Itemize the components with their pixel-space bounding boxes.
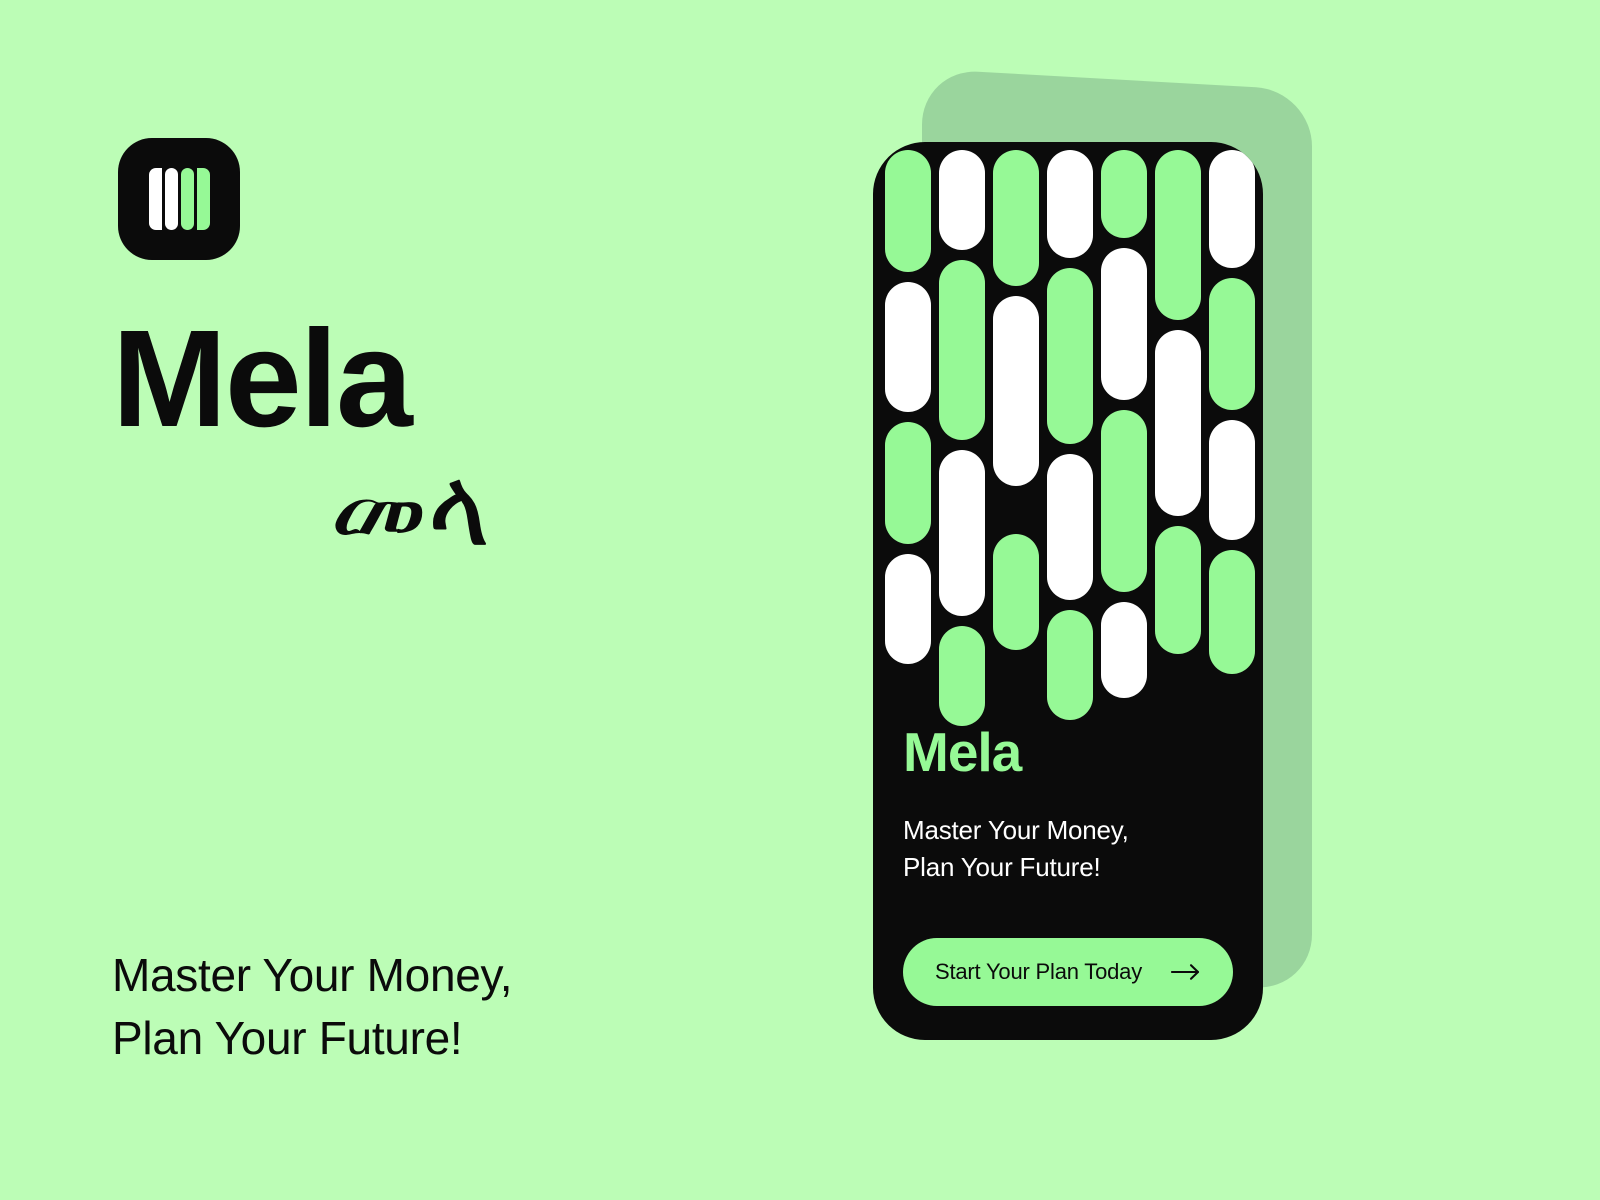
pattern-pill [939,150,985,250]
pattern-pill [885,422,931,544]
logo-bar-2 [165,168,178,230]
logo-bar-1 [149,168,162,230]
pill-column [885,142,931,672]
arrow-right-icon [1171,963,1201,981]
pattern-pill [1047,268,1093,444]
pill-pattern-grid [873,142,1263,672]
logo-bars [149,168,210,230]
logo-bar-3 [181,168,194,230]
wordmark-amharic: መላ [330,455,490,563]
pattern-pill [1209,420,1255,540]
pattern-pill [1047,610,1093,720]
pill-column [939,142,985,672]
brand-tagline-line-1: Master Your Money, [112,944,512,1007]
pattern-pill [1101,248,1147,400]
pill-column [1047,142,1093,672]
pattern-pill [1047,150,1093,258]
pattern-pill [1101,410,1147,592]
phone-tagline-line-2: Plan Your Future! [903,849,1233,886]
pattern-pill [1101,602,1147,698]
pill-column [1155,142,1201,672]
pattern-pill [1155,526,1201,654]
phone-tagline-line-1: Master Your Money, [903,812,1233,849]
pattern-pill [939,260,985,440]
pattern-pill [1209,150,1255,268]
phone-content: Mela Master Your Money, Plan Your Future… [873,725,1263,1040]
pill-column [993,142,1039,672]
pattern-pill [1209,278,1255,410]
logo-bar-4 [197,168,210,230]
phone-frame: Mela Master Your Money, Plan Your Future… [873,142,1263,1040]
pattern-pill [939,450,985,616]
brand-tagline-line-2: Plan Your Future! [112,1007,512,1070]
pattern-pill [1101,150,1147,238]
pattern-pill [885,554,931,664]
phone-tagline: Master Your Money, Plan Your Future! [903,812,1233,886]
mela-app-logo-icon [118,138,240,260]
pattern-pill [993,296,1039,486]
pattern-pill [1047,454,1093,600]
pill-column [1209,142,1255,672]
wordmark-latin: Mela [112,310,411,448]
pattern-pill [939,626,985,726]
start-your-plan-today-button[interactable]: Start Your Plan Today [903,938,1233,1006]
pattern-pill [885,150,931,272]
cta-button-label: Start Your Plan Today [935,959,1142,985]
pattern-pill [993,534,1039,650]
phone-mockup-area: Mela Master Your Money, Plan Your Future… [800,0,1600,1200]
pattern-pill [1155,330,1201,516]
brand-panel: Mela መላ Master Your Money, Plan Your Fut… [0,0,800,1200]
brand-tagline: Master Your Money, Plan Your Future! [112,944,512,1071]
phone-brand-title: Mela [903,725,1233,780]
pill-column [1101,142,1147,672]
pattern-pill [1155,150,1201,320]
pattern-pill [993,150,1039,286]
pattern-pill [885,282,931,412]
pattern-pill [1209,550,1255,674]
